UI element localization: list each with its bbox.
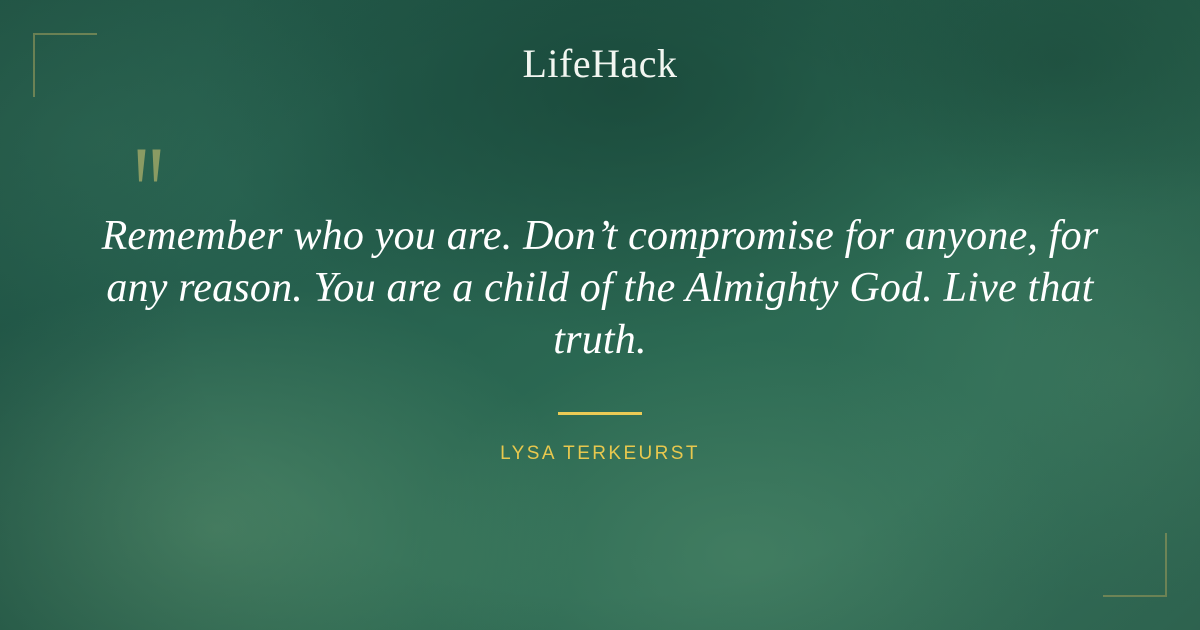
double-quote-icon: [132, 148, 168, 193]
quote-text: Remember who you are. Don’t compromise f…: [100, 210, 1100, 366]
gold-divider: [558, 412, 642, 415]
quote-line-3: truth.: [100, 314, 1100, 366]
corner-bracket-bottom-right-icon: [1103, 533, 1167, 597]
quote-author: LYSA TERKEURST: [100, 443, 1100, 465]
lifehack-logo: LifeHack: [0, 40, 1200, 87]
quote-line-1: Remember who you are. Don’t compromise f…: [100, 210, 1100, 262]
quote-card: LifeHack Remember who you are. Don’t com…: [0, 0, 1200, 630]
quote-line-2: any reason. You are a child of the Almig…: [100, 262, 1100, 314]
quote-block: Remember who you are. Don’t compromise f…: [100, 210, 1100, 465]
